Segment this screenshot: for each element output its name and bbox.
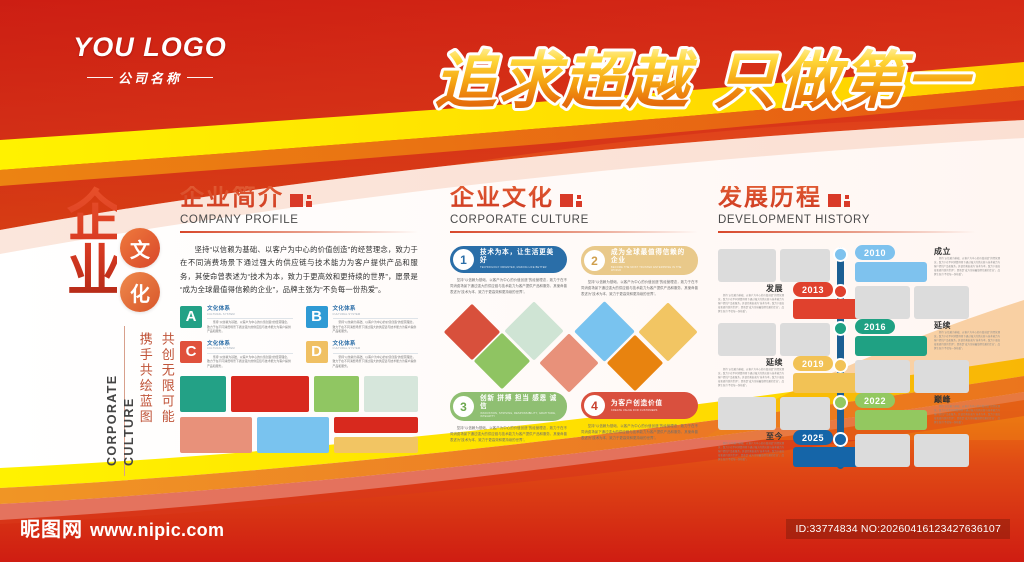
timeline-label: 巅峰 <box>934 394 951 405</box>
timeline-row[interactable]: 坚持“以信赖为基础、以客户为中心的价值创造”的经营理念，致力于在不同消费场景下通… <box>718 356 976 393</box>
timeline-color-block <box>855 336 927 356</box>
item-rule <box>333 353 419 354</box>
column-corporate-culture: 企业文化 CORPORATE CULTURE 1 技术为本，让生活更美好 <box>450 186 698 444</box>
timeline-year: 2010 <box>855 245 895 260</box>
history-rule <box>718 231 976 233</box>
timeline-text: 坚持“以信赖为基础、以客户为中心的价值创造”的经营理念，致力于在不同消费场景下通… <box>718 442 784 462</box>
culture-heading: 成为全球最值得信赖的企业 <box>611 249 689 265</box>
list-item[interactable]: B 文化体系 CULTURAL SYSTEM 坚持“以信赖为基础、以客户为中心的… <box>306 306 419 334</box>
history-title: 发展历程 <box>718 186 822 210</box>
vertical-title-main: 企业 <box>64 186 117 296</box>
footer-brand-cn: 昵图网 <box>20 513 83 542</box>
item-badge-c: C <box>180 341 202 363</box>
circle-hua: 化 <box>120 272 160 312</box>
mosaic-row-2 <box>180 417 418 453</box>
item-badge-a: A <box>180 306 202 328</box>
timeline-placeholder <box>718 323 776 356</box>
timeline-row[interactable]: 2022 巅峰 坚持“以信赖为基础、以客户为中心的价值创造”的经营理念，致力于在… <box>718 393 976 430</box>
deco-square-stack <box>844 195 850 207</box>
timeline-placeholder <box>780 249 830 282</box>
timeline-placeholder <box>855 360 910 393</box>
list-item[interactable]: D 文化体系 CULTURAL SYSTEM 坚持“以信赖为基础、以客户为中心的… <box>306 341 419 369</box>
timeline-row[interactable]: 坚持“以信赖为基础、以客户为中心的价值创造”的经营理念，致力于在不同消费场景下通… <box>718 430 976 467</box>
logo-block: YOU LOGO 公司名称 <box>60 34 240 87</box>
poster-headline: 追求超越 只做第一 <box>392 38 1012 128</box>
item-text-b: 文化体系 CULTURAL SYSTEM 坚持“以信赖为基础、以客户为中心的价值… <box>333 306 419 334</box>
title-decoration-squares <box>290 194 312 210</box>
item-paragraph: 坚持“以信赖为基础、以客户为中心的价值创造”的经营理念，致力于在不同消费场景下通… <box>333 355 419 369</box>
item-english: CULTURAL SYSTEM <box>207 347 293 350</box>
culture-english: INNOVATION, STRIVING, RESPONSIBILITY, GR… <box>480 412 558 419</box>
culture-paragraph: 坚持“以信赖为基础、以客户为中心的价值创造”的经营理念，致力于在不同消费场景下通… <box>450 426 567 444</box>
item-text-d: 文化体系 CULTURAL SYSTEM 坚持“以信赖为基础、以客户为中心的价值… <box>333 341 419 369</box>
timeline-year: 2022 <box>855 393 895 408</box>
history-title-row: 发展历程 <box>718 186 976 210</box>
culture-pill: 3 创新 拼搏 担当 感恩 诚信 INNOVATION, STRIVING, R… <box>450 392 567 421</box>
culture-diamond-gallery <box>450 304 698 390</box>
profile-culture-items: A 文化体系 CULTURAL SYSTEM 坚持“以信赖为基础、以客户为中心的… <box>180 306 418 369</box>
item-english: CULTURAL SYSTEM <box>333 347 419 350</box>
deco-square-stack <box>306 195 312 207</box>
item-badge-b: B <box>306 306 328 328</box>
footer-id-badge: ID:33774834 NO:20260416123427636107 <box>786 519 1010 539</box>
item-english: CULTURAL SYSTEM <box>207 313 293 316</box>
culture-card-1[interactable]: 1 技术为本，让生活更美好 TECHNOLOGY ORIENTED, MAKIN… <box>450 246 567 298</box>
poster-canvas: YOU LOGO 公司名称 追求超越 只做第一 企业 文 <box>0 0 1024 562</box>
timeline-dot <box>833 358 848 373</box>
culture-number: 3 <box>453 396 474 417</box>
deco-square-large-icon <box>828 194 841 207</box>
timeline: 2010 成立 坚持“以信赖为基础、以客户为中心的价值创造”的经营理念，致力于在… <box>718 245 976 471</box>
profile-header: 企业简介 COMPANY PROFILE <box>180 186 418 233</box>
mosaic-row-1 <box>180 376 418 412</box>
item-paragraph: 坚持“以信赖为基础、以客户为中心的价值创造”的经营理念，致力于在不同消费场景下通… <box>333 320 419 334</box>
timeline-dot <box>833 395 848 410</box>
deco-square-large-icon <box>290 194 303 207</box>
item-heading: 文化体系 <box>207 306 293 313</box>
history-subtitle: DEVELOPMENT HISTORY <box>718 214 976 226</box>
deco-square-small-icon <box>577 195 581 199</box>
timeline-year: 2019 <box>793 356 833 371</box>
culture-card-3[interactable]: 3 创新 拼搏 担当 感恩 诚信 INNOVATION, STRIVING, R… <box>450 392 567 444</box>
item-heading: 文化体系 <box>333 306 419 313</box>
timeline-placeholder <box>914 360 969 393</box>
mosaic-cell <box>334 437 418 453</box>
culture-card-4[interactable]: 4 为客户创造价值 CREATE VALUE FOR CUSTOMERS 坚持“… <box>581 392 698 444</box>
timeline-label: 延续 <box>934 320 951 331</box>
timeline-label: 成立 <box>934 246 951 257</box>
logo-text: YOU LOGO <box>60 34 240 61</box>
column-company-profile: 企业简介 COMPANY PROFILE 坚持“以信赖为基础、以客户为中心的价值… <box>180 186 418 453</box>
profile-title: 企业简介 <box>180 186 284 210</box>
profile-image-mosaic <box>180 376 418 453</box>
timeline-color-block <box>855 410 927 430</box>
timeline-text: 坚持“以信赖为基础、以客户为中心的价值创造”的经营理念，致力于在不同消费场景下通… <box>934 331 1000 351</box>
deco-square-large-icon <box>560 194 573 207</box>
deco-square-medium-icon <box>306 201 312 207</box>
culture-heading: 为客户创造价值 <box>611 400 663 408</box>
list-item[interactable]: C 文化体系 CULTURAL SYSTEM 坚持“以信赖为基础、以客户为中心的… <box>180 341 293 369</box>
timeline-year: 2016 <box>855 319 895 334</box>
profile-body-text: 坚持“以信赖为基础、以客户为中心的价值创造”的经营理念，致力于在不同消费场景下通… <box>180 243 418 297</box>
mosaic-stack <box>334 417 418 453</box>
logo-subtitle-row: 公司名称 <box>60 68 240 87</box>
vertical-title-circles: 文 化 <box>120 228 160 316</box>
culture-english: CREATE VALUE FOR CUSTOMERS <box>611 409 663 412</box>
vertical-slogan-1: 携手共绘蓝图 <box>132 332 157 425</box>
timeline-dot <box>833 432 848 447</box>
culture-items-top: 1 技术为本，让生活更美好 TECHNOLOGY ORIENTED, MAKIN… <box>450 246 698 298</box>
timeline-row[interactable]: 坚持“以信赖为基础、以客户为中心的价值创造”的经营理念，致力于在不同消费场景下通… <box>718 282 976 319</box>
culture-paragraph: 坚持“以信赖为基础、以客户为中心的价值创造”的经营理念，致力于在不同消费场景下通… <box>581 424 698 442</box>
profile-subtitle: COMPANY PROFILE <box>180 214 418 226</box>
timeline-text: 坚持“以信赖为基础、以客户为中心的价值创造”的经营理念，致力于在不同消费场景下通… <box>718 368 784 388</box>
item-text-c: 文化体系 CULTURAL SYSTEM 坚持“以信赖为基础、以客户为中心的价值… <box>207 341 293 369</box>
item-text-a: 文化体系 CULTURAL SYSTEM 坚持“以信赖为基础、以客户为中心的价值… <box>207 306 293 334</box>
logo-rule-left <box>87 77 113 79</box>
culture-subtitle: CORPORATE CULTURE <box>450 214 698 226</box>
culture-number: 1 <box>453 249 474 270</box>
culture-pill-text: 为客户创造价值 CREATE VALUE FOR CUSTOMERS <box>611 400 663 412</box>
svg-text:追求超越 只做第一: 追求超越 只做第一 <box>434 44 974 117</box>
timeline-placeholder <box>855 286 910 319</box>
culture-rule <box>450 231 698 233</box>
timeline-placeholder <box>780 323 830 356</box>
timeline-text: 坚持“以信赖为基础、以客户为中心的价值创造”的经营理念，致力于在不同消费场景下通… <box>934 405 1000 425</box>
mosaic-cell <box>180 417 252 453</box>
vertical-slogan-2: 共创无限可能 <box>154 332 179 425</box>
vertical-title-block: 企业 文 化 CORPORATE CULTURE 携手共绘蓝图 共创无限可能 <box>62 186 180 466</box>
culture-english: TECHNOLOGY ORIENTED, MAKING LIFE BETTER <box>480 266 558 269</box>
mosaic-cell <box>180 376 226 412</box>
logo-subtitle: 公司名称 <box>118 68 182 87</box>
item-paragraph: 坚持“以信赖为基础、以客户为中心的价值创造”的经营理念，致力于在不同消费场景下通… <box>207 320 293 334</box>
title-decoration-squares <box>560 194 582 210</box>
culture-pill-text: 创新 拼搏 担当 感恩 诚信 INNOVATION, STRIVING, RES… <box>480 395 558 418</box>
culture-heading: 技术为本，让生活更美好 <box>480 249 558 265</box>
column-development-history: 发展历程 DEVELOPMENT HISTORY 2010 <box>718 186 976 471</box>
deco-square-stack <box>576 195 582 207</box>
footer-brand: 昵图网 www.nipic.com <box>20 513 224 542</box>
deco-square-medium-icon <box>844 201 850 207</box>
culture-pill-text: 成为全球最值得信赖的企业 BECOME THE MOST TRUSTED ENT… <box>611 249 689 272</box>
culture-header: 企业文化 CORPORATE CULTURE <box>450 186 698 233</box>
culture-pill-text: 技术为本，让生活更美好 TECHNOLOGY ORIENTED, MAKING … <box>480 249 558 269</box>
deco-square-small-icon <box>307 195 311 199</box>
timeline-label: 延续 <box>766 357 783 368</box>
culture-pill: 1 技术为本，让生活更美好 TECHNOLOGY ORIENTED, MAKIN… <box>450 246 567 273</box>
culture-paragraph: 坚持“以信赖为基础、以客户为中心的价值创造”的经营理念，致力于在不同消费场景下通… <box>450 278 567 296</box>
timeline-label: 发展 <box>766 283 783 294</box>
culture-english: BECOME THE MOST TRUSTED ENTERPRISE IN TH… <box>611 266 689 273</box>
culture-card-2[interactable]: 2 成为全球最值得信赖的企业 BECOME THE MOST TRUSTED E… <box>581 246 698 298</box>
timeline-text: 坚持“以信赖为基础、以客户为中心的价值创造”的经营理念，致力于在不同消费场景下通… <box>934 257 1000 277</box>
logo-rule-right <box>187 77 213 79</box>
profile-rule <box>180 231 418 233</box>
timeline-placeholder <box>780 397 830 430</box>
timeline-placeholder <box>855 434 910 467</box>
deco-square-small-icon <box>845 195 849 199</box>
item-badge-d: D <box>306 341 328 363</box>
list-item[interactable]: A 文化体系 CULTURAL SYSTEM 坚持“以信赖为基础、以客户为中心的… <box>180 306 293 334</box>
history-header: 发展历程 DEVELOPMENT HISTORY <box>718 186 976 233</box>
culture-number: 4 <box>584 395 605 416</box>
item-english: CULTURAL SYSTEM <box>333 313 419 316</box>
timeline-row[interactable]: 2016 延续 坚持“以信赖为基础、以客户为中心的价值创造”的经营理念，致力于在… <box>718 319 976 356</box>
culture-pill: 4 为客户创造价值 CREATE VALUE FOR CUSTOMERS <box>581 392 698 419</box>
mosaic-cell <box>257 417 329 453</box>
item-rule <box>333 318 419 319</box>
mosaic-cell <box>364 376 418 412</box>
timeline-placeholder <box>718 397 776 430</box>
culture-paragraph: 坚持“以信赖为基础、以客户为中心的价值创造”的经营理念，致力于在不同消费场景下通… <box>581 280 698 298</box>
footer-brand-url: www.nipic.com <box>90 520 224 541</box>
culture-title: 企业文化 <box>450 186 554 210</box>
item-rule <box>207 318 293 319</box>
timeline-year: 2025 <box>793 430 833 445</box>
profile-title-row: 企业简介 <box>180 186 418 210</box>
timeline-placeholder <box>914 286 969 319</box>
timeline-dot <box>833 321 848 336</box>
mosaic-cell <box>314 376 359 412</box>
timeline-color-block <box>855 262 927 282</box>
timeline-row[interactable]: 2010 成立 坚持“以信赖为基础、以客户为中心的价值创造”的经营理念，致力于在… <box>718 245 976 282</box>
timeline-placeholder <box>914 434 969 467</box>
item-paragraph: 坚持“以信赖为基础、以客户为中心的价值创造”的经营理念，致力于在不同消费场景下通… <box>207 355 293 369</box>
culture-title-row: 企业文化 <box>450 186 698 210</box>
title-decoration-squares <box>828 194 850 210</box>
timeline-label: 至今 <box>766 431 783 442</box>
timeline-dot <box>833 247 848 262</box>
timeline-text: 坚持“以信赖为基础、以客户为中心的价值创造”的经营理念，致力于在不同消费场景下通… <box>718 294 784 314</box>
culture-number: 2 <box>584 250 605 271</box>
mosaic-cell <box>231 376 309 412</box>
culture-items-bottom: 3 创新 拼搏 担当 感恩 诚信 INNOVATION, STRIVING, R… <box>450 392 698 444</box>
timeline-placeholder <box>718 249 776 282</box>
deco-square-medium-icon <box>576 201 582 207</box>
timeline-dot <box>833 284 848 299</box>
item-rule <box>207 353 293 354</box>
culture-pill: 2 成为全球最值得信赖的企业 BECOME THE MOST TRUSTED E… <box>581 246 698 275</box>
culture-heading: 创新 拼搏 担当 感恩 诚信 <box>480 395 558 411</box>
circle-wen: 文 <box>120 228 160 268</box>
mosaic-cell <box>334 417 418 433</box>
timeline-year: 2013 <box>793 282 833 297</box>
